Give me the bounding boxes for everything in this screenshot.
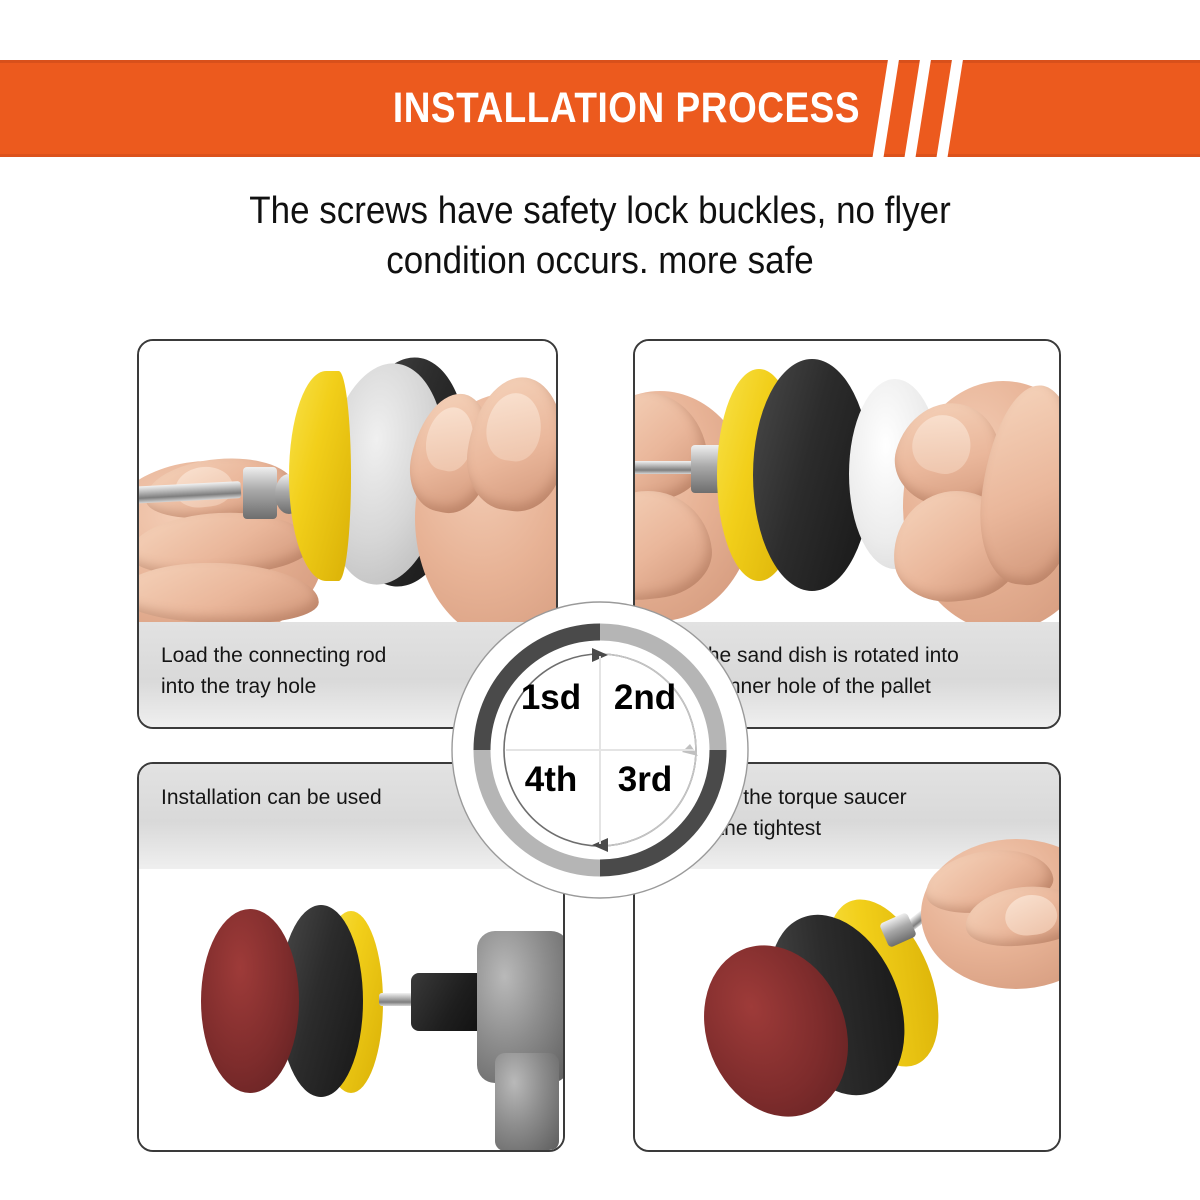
cycle-diagram: 1sd 2nd 3rd 4th bbox=[450, 600, 750, 900]
step-2-photo bbox=[635, 341, 1059, 626]
infographic-page: INSTALLATION PROCESS The screws have saf… bbox=[0, 0, 1200, 1200]
step-3-photo bbox=[139, 869, 563, 1152]
subtitle-line-2: condition occurs. more safe bbox=[158, 236, 1041, 286]
sanding-disc bbox=[201, 909, 299, 1093]
subtitle: The screws have safety lock buckles, no … bbox=[158, 186, 1041, 286]
step-4-photo bbox=[635, 869, 1059, 1152]
cycle-rings bbox=[450, 600, 750, 900]
cycle-label-2nd: 2nd bbox=[602, 678, 688, 718]
header-banner: INSTALLATION PROCESS bbox=[0, 60, 1200, 157]
connecting-rod bbox=[633, 461, 699, 474]
subtitle-line-1: The screws have safety lock buckles, no … bbox=[158, 186, 1041, 236]
banner-slash-decoration bbox=[902, 60, 933, 157]
drill-handle bbox=[495, 1053, 559, 1151]
banner-slash-decoration bbox=[934, 60, 965, 157]
cycle-label-1sd: 1sd bbox=[508, 678, 594, 718]
cycle-label-4th: 4th bbox=[508, 760, 594, 800]
banner-slash-decoration bbox=[870, 60, 901, 157]
hex-nut bbox=[243, 467, 277, 519]
page-title: INSTALLATION PROCESS bbox=[120, 60, 860, 157]
cycle-label-3rd: 3rd bbox=[602, 760, 688, 800]
step-1-photo bbox=[139, 341, 556, 626]
